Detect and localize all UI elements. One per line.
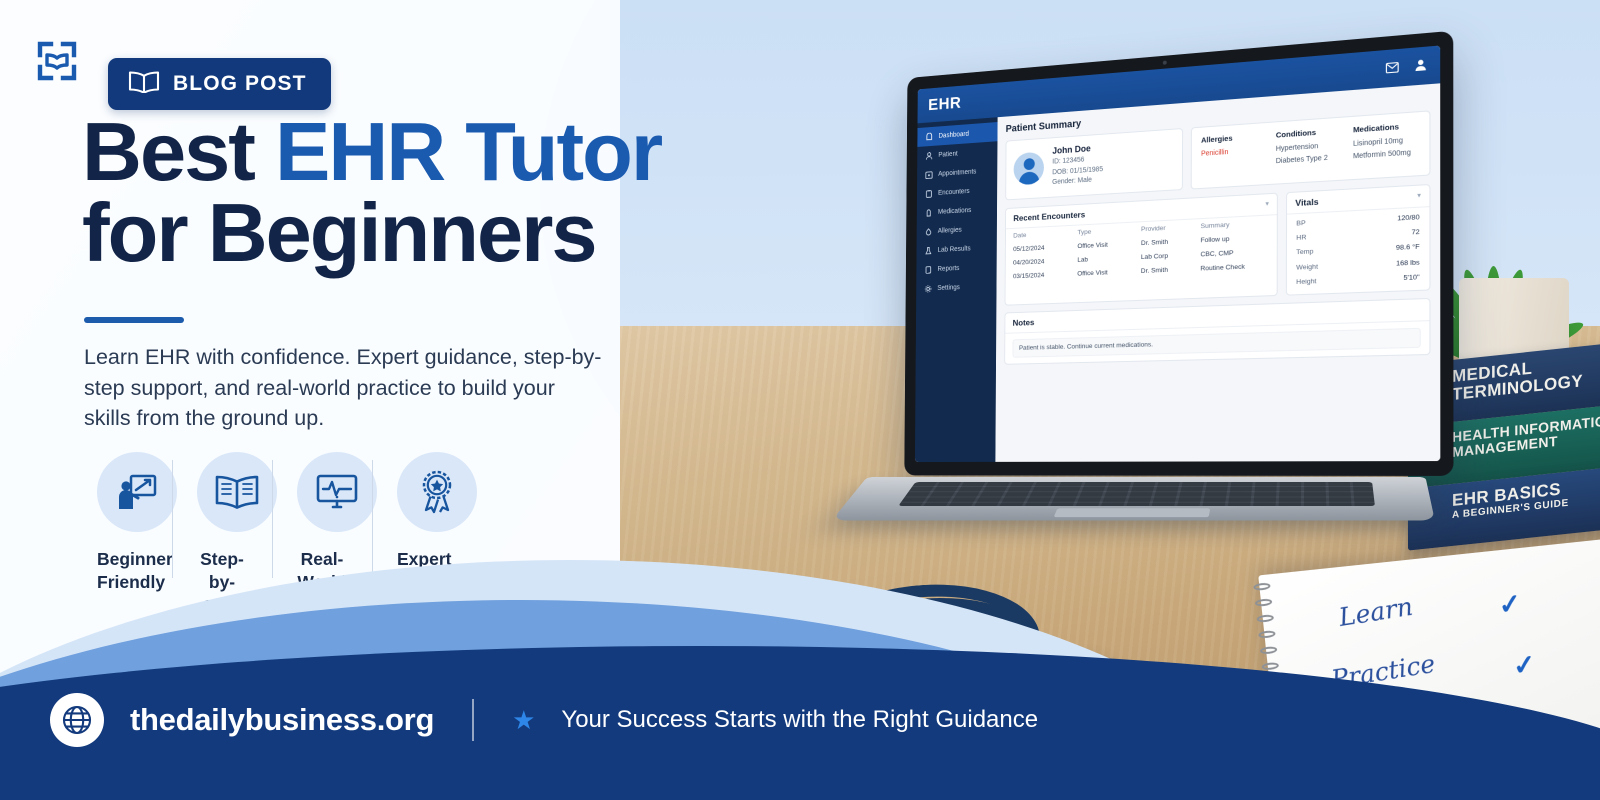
patient-info-card: John Doe ID: 123456 DOB: 01/15/1985 Gend… [1005, 128, 1183, 200]
notepad-item: Learn [1337, 592, 1415, 632]
vital-key: BP [1296, 220, 1305, 228]
vital-value: 5'10" [1403, 274, 1419, 282]
ehr-application: EHR [915, 45, 1440, 462]
page-headline: Best EHR Tutor for Beginners [82, 112, 782, 273]
poster-canvas: MEDICAL TERMINOLOGY HEALTH INFORMATION M… [0, 0, 1600, 800]
laptop-device: EHR [850, 55, 1430, 575]
column-header: Conditions [1276, 126, 1341, 140]
recent-encounters-card: Recent Encounters ▾ Date Type Provider [1005, 192, 1278, 306]
conditions-column: Conditions Hypertension Diabetes Type 2 [1276, 126, 1341, 175]
patient-icon [925, 151, 933, 160]
headline-highlight: EHR Tutor [275, 105, 661, 198]
user-account-icon[interactable] [1414, 58, 1427, 74]
column-header: Medications [1353, 121, 1420, 135]
site-url[interactable]: thedailybusiness.org [130, 702, 434, 738]
encounters-icon [925, 189, 933, 198]
subtitle-text: Learn EHR with confidence. Expert guidan… [84, 342, 604, 434]
column-header: Allergies [1201, 131, 1264, 144]
checkmark-icon: ✓ [1497, 588, 1523, 621]
laptop-screen: EHR [915, 45, 1440, 462]
appointments-icon [925, 170, 933, 179]
vital-key: Weight [1296, 263, 1318, 271]
patient-gender: Gender: Male [1052, 175, 1103, 188]
presenter-whiteboard-icon [97, 452, 177, 532]
footer-divider [472, 699, 474, 741]
cell-summary: Routine Check [1192, 259, 1276, 277]
laptop-keyboard [898, 482, 1375, 506]
card-title: Notes [1013, 318, 1035, 328]
notes-text: Patient is stable. Continue current medi… [1012, 328, 1420, 358]
open-book-icon [197, 452, 277, 532]
reports-icon [924, 265, 932, 274]
allergy-value: Penicillin [1201, 145, 1264, 161]
medications-icon [925, 208, 933, 217]
allergies-column: Allergies Penicillin [1201, 131, 1264, 179]
card-title: Recent Encounters [1013, 209, 1085, 223]
laptop-lid: EHR [904, 31, 1453, 476]
badge-label: BLOG POST [173, 72, 307, 96]
vital-key: Height [1296, 278, 1316, 286]
footer-tagline: Your Success Starts with the Right Guida… [561, 706, 1038, 734]
vital-key: HR [1296, 234, 1306, 242]
accent-rule [84, 317, 184, 323]
award-ribbon-icon [397, 452, 477, 532]
sidebar-item-label: Reports [937, 265, 959, 273]
vital-value: 120/80 [1397, 214, 1419, 222]
vital-value: 72 [1411, 229, 1419, 237]
cell-provider: Dr. Smith [1133, 263, 1192, 280]
notes-card: Notes Patient is stable. Continue curren… [1004, 298, 1430, 365]
headline-part-2: for Beginners [82, 186, 596, 279]
dashboard-icon [925, 132, 933, 141]
mail-icon[interactable] [1385, 61, 1399, 76]
vital-value: 98.6 °F [1396, 244, 1420, 252]
vital-key: Temp [1296, 249, 1313, 257]
checkmark-icon: ✓ [1512, 649, 1538, 682]
chevron-down-icon[interactable]: ▾ [1266, 200, 1269, 207]
sidebar-item-label: Settings [937, 284, 960, 292]
settings-gear-icon [924, 284, 932, 293]
webcam-icon [1163, 61, 1167, 65]
lab-results-icon [924, 246, 932, 255]
sidebar-item-label: Appointments [938, 168, 976, 177]
patient-avatar-icon [1014, 152, 1045, 186]
feature-label-line1: Beginner [97, 548, 147, 571]
sidebar-item-label: Medications [938, 207, 971, 216]
open-book-icon [128, 69, 160, 99]
sidebar-item-settings[interactable]: Settings [916, 276, 996, 298]
card-title: Vitals [1295, 196, 1318, 208]
sidebar-item-label: Lab Results [938, 245, 971, 253]
feature-label-line2: Friendly [97, 571, 147, 594]
sidebar-item-label: Patient [938, 150, 957, 158]
ehr-app-title: EHR [928, 93, 961, 115]
medications-column: Medications Lisinopril 10mg Metformin 50… [1353, 121, 1420, 171]
cell-date: 03/15/2024 [1006, 268, 1070, 284]
monitor-heartbeat-icon [297, 452, 377, 532]
headline-part-1: Best [82, 105, 275, 198]
chevron-down-icon[interactable]: ▾ [1417, 192, 1420, 200]
blog-post-badge[interactable]: BLOG POST [108, 58, 331, 110]
vital-value: 168 lbs [1396, 259, 1420, 267]
laptop-base [832, 477, 1435, 521]
allergies-icon [925, 227, 933, 236]
sidebar-item-label: Dashboard [938, 130, 968, 139]
vitals-card: Vitals ▾ BP 120/80 [1286, 183, 1431, 296]
globe-icon [50, 693, 104, 747]
ehr-main-content: Patient Summary John Doe ID: 123456 DOB:… [995, 83, 1440, 462]
condition-value: Diabetes Type 2 [1276, 152, 1341, 169]
cell-type: Office Visit [1070, 265, 1134, 282]
sidebar-item-label: Encounters [938, 188, 970, 197]
clinical-summary-card: Allergies Penicillin Conditions Hyperten… [1191, 110, 1430, 189]
book-bracket-logo-icon[interactable] [34, 38, 80, 84]
ehr-sidebar: Dashboard Patient [915, 117, 998, 462]
star-icon: ★ [512, 707, 535, 733]
laptop-trackpad [1054, 508, 1211, 517]
sidebar-item-label: Allergies [938, 226, 962, 234]
